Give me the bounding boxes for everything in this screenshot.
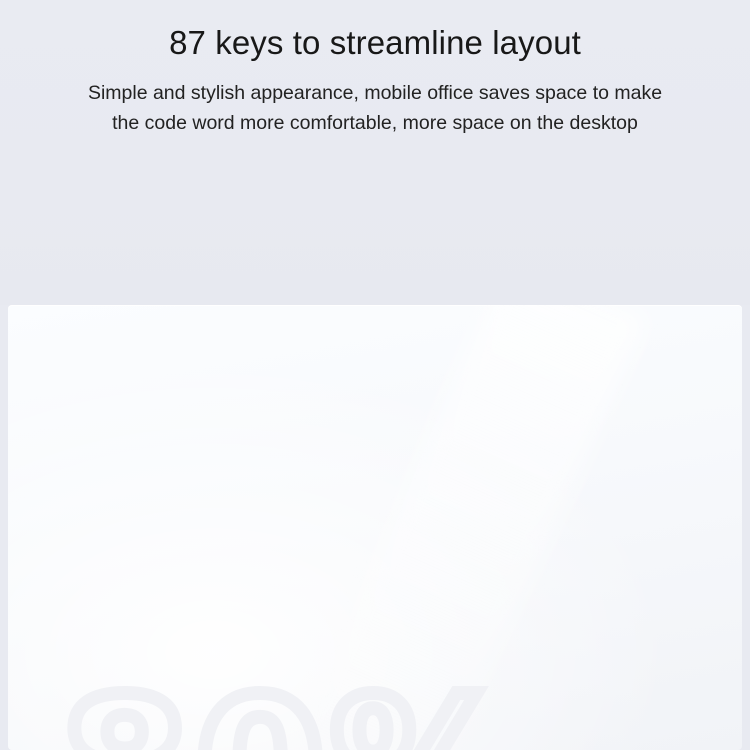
- page-root: 87 keys to streamline layout Simple and …: [0, 0, 750, 750]
- subtitle-line-2: the code word more comfortable, more spa…: [0, 108, 750, 138]
- header-banner: 87 keys to streamline layout Simple and …: [0, 0, 750, 305]
- watermark-80-percent: 80%: [60, 677, 700, 750]
- page-subtitle: Simple and stylish appearance, mobile of…: [0, 78, 750, 138]
- page-title: 87 keys to streamline layout: [0, 24, 750, 62]
- subtitle-line-1: Simple and stylish appearance, mobile of…: [0, 78, 750, 108]
- product-image-panel: 80% EscF1F2F3F4F5F6F7F8F9F10F11F12PrintS…: [8, 305, 742, 750]
